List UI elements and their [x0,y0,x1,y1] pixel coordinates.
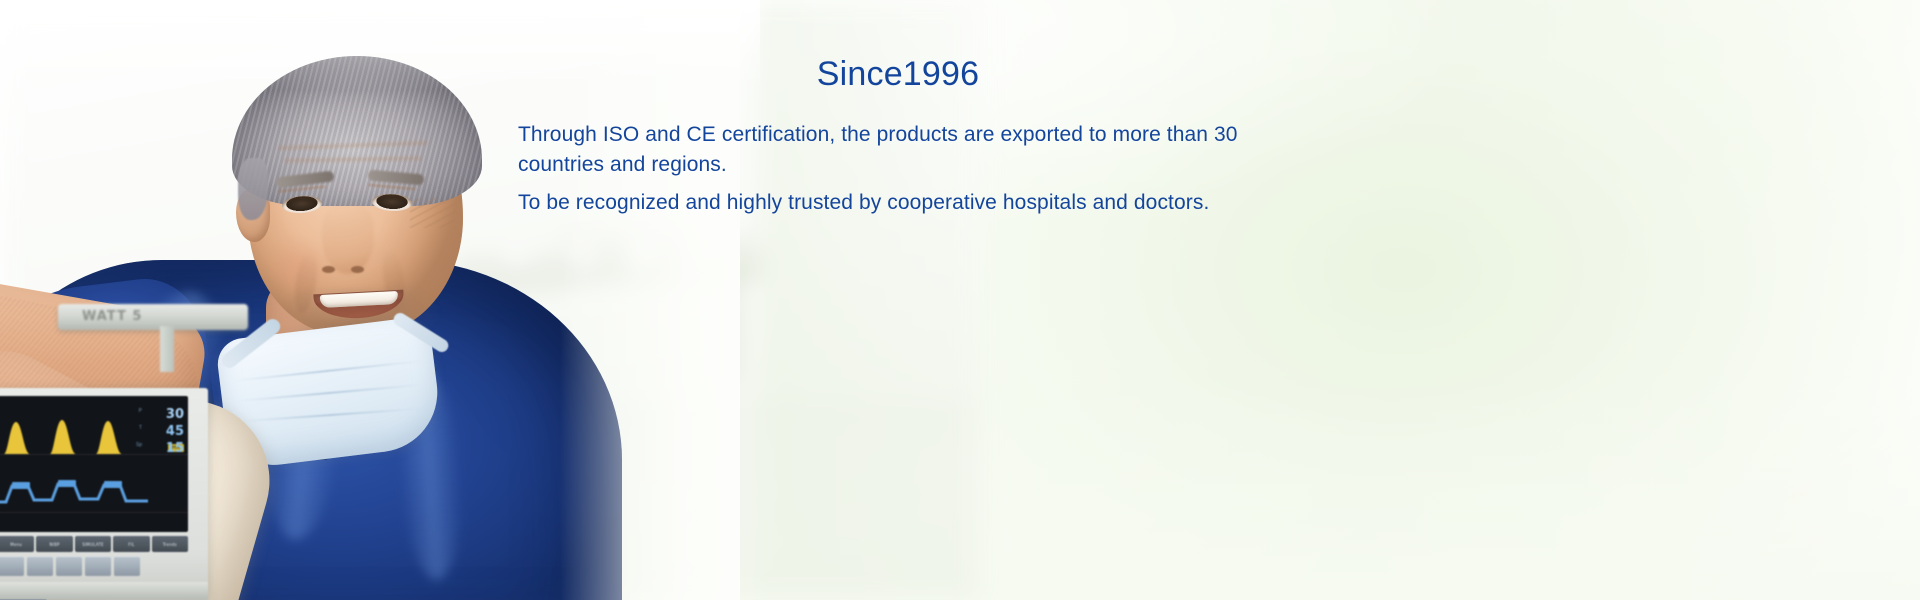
monitor-vitals: 30 45 15 [140,406,184,457]
monitor-button-row [0,556,188,578]
monitor-softkey-row: Menu NIBP SIMULATE FIL Trends [0,536,188,552]
banner-copy: Since1996 Through ISO and CE certificati… [518,52,1278,218]
monitor-softkey: Trends [152,536,188,552]
monitor-button [27,556,53,576]
crows-feet [410,198,456,228]
nostril-left [322,266,335,273]
monitor-vital-value: 30 [140,406,184,423]
monitor-vital-value: 45 [140,423,184,440]
banner-paragraph-2: To be recognized and highly trusted by c… [518,188,1278,218]
banner-paragraph-1: Through ISO and CE certification, the pr… [518,120,1278,180]
monitor-base [0,582,208,600]
waveform-pressure [0,468,148,512]
sideburn [238,158,268,220]
monitor-vital-tag: T [139,425,142,431]
monitor-divider [0,512,188,513]
hero-banner: WATT 5 HR 30 [0,0,1920,600]
nostril-right [351,266,364,273]
watt-device-post [160,326,174,372]
monitor-button [85,556,111,576]
monitor-button [114,556,140,576]
monitor-vital-tag: P [139,408,142,414]
monitor-button [56,556,82,576]
monitor-softkey: FIL [113,536,149,552]
watt-device: WATT 5 [58,296,248,340]
nose [322,202,374,274]
page-title: Since1996 [518,52,1278,96]
waveform-pleth [0,410,148,454]
monitor-softkey: Menu [0,536,34,552]
patient-monitor: HR 30 45 15 P T Sp Menu NIBP SIMULATE FI… [0,388,208,600]
monitor-softkey: SIMULATE [75,536,111,552]
monitor-vital-value: 15 [140,440,184,457]
monitor-vital-tag: Sp [136,442,142,448]
monitor-button [0,556,24,576]
monitor-screen: HR 30 45 15 P T Sp [0,396,188,532]
watt-device-label: WATT 5 [82,309,142,324]
monitor-softkey: NIBP [36,536,72,552]
